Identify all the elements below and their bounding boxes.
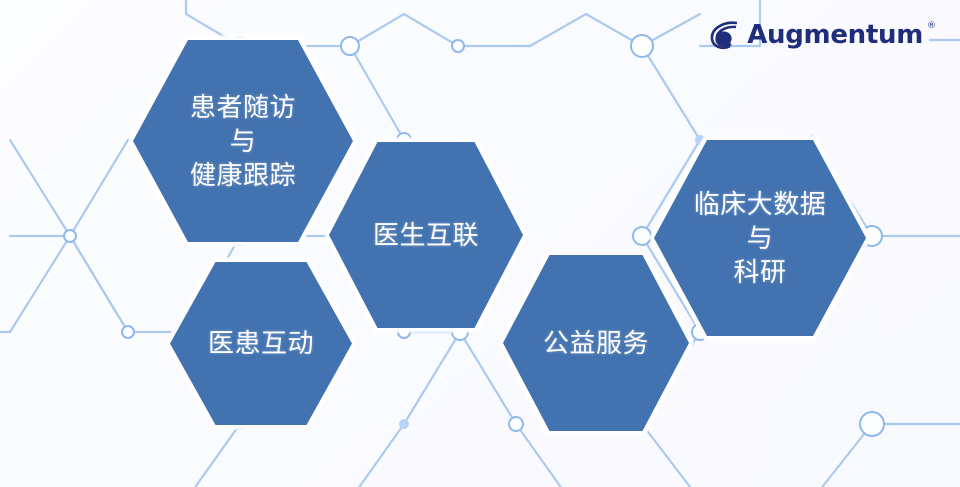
hexagon-patient-follow-up[interactable]: 患者随访 与 健康跟踪: [133, 40, 353, 242]
network-node-ring: [122, 326, 134, 338]
network-node-ring: [341, 37, 359, 55]
network-node-ring: [64, 230, 76, 242]
hexagon-label-doctor-patient-interaction: 医患互动: [208, 326, 314, 360]
network-node-ring: [860, 412, 884, 436]
network-node-ring: [631, 35, 653, 57]
augmentum-swirl-icon: [707, 18, 741, 52]
network-node-dot: [399, 419, 409, 429]
hexagon-clinical-big-data[interactable]: 临床大数据 与 科研: [654, 140, 866, 336]
hexagon-label-public-welfare-service: 公益服务: [543, 326, 649, 360]
hexagon-label-patient-follow-up: 患者随访 与 健康跟踪: [190, 90, 296, 193]
hexagon-label-clinical-big-data: 临床大数据 与 科研: [694, 187, 827, 290]
trademark-symbol: ®: [927, 21, 936, 31]
network-node-ring: [452, 40, 464, 52]
slide-canvas: 患者随访 与 健康跟踪 医生互联 医患互动 公益服务 临床大数据 与 科研 Au…: [0, 0, 960, 487]
network-node-ring: [633, 227, 651, 245]
network-node-ring: [509, 417, 523, 431]
hexagon-label-doctor-network: 医生互联: [373, 218, 479, 252]
brand-logo: Augmentum ®: [707, 18, 938, 52]
brand-wordmark: Augmentum: [747, 20, 923, 50]
